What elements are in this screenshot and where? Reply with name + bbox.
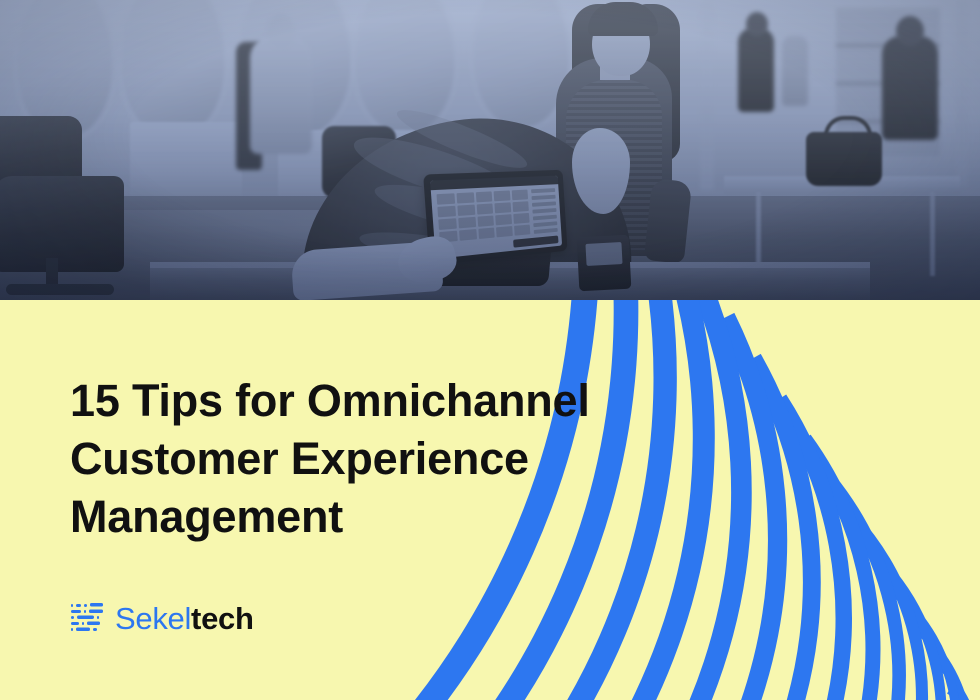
decorative-arc [823,555,941,700]
chair-base [6,284,114,295]
card-terminal-screen [585,242,622,266]
decorative-arc [782,517,922,700]
background-shopper [782,36,808,106]
pos-product-grid [436,190,530,243]
table-leg [930,192,935,276]
content-panel: 15 Tips for Omnichannel Customer Experie… [0,300,980,700]
brand-wordmark: Sekeltech [115,603,254,634]
window-column [700,0,714,190]
poster-canvas: 15 Tips for Omnichannel Customer Experie… [0,0,980,700]
hero-image-scene [0,0,980,300]
hero-image [0,0,980,300]
decorative-arc [737,479,899,700]
decorative-arc [920,661,976,700]
pos-checkout-button [513,235,558,247]
background-shopper-head [896,16,924,46]
background-stylist [250,36,312,154]
background-stylist-head [266,14,296,48]
background-shopper [738,28,774,112]
salon-chair [0,176,124,272]
headline-line-1: 15 Tips for Omnichannel [70,372,650,430]
headline-line-3: Management [70,488,650,546]
pos-order-list [531,188,558,234]
sekel-tech-bars-icon [70,602,104,634]
brand-word-primary: Sekel [115,601,191,636]
decorative-arc [689,439,873,700]
decorative-arc [892,628,968,700]
handbag [806,132,882,186]
stylist-hair [588,2,658,36]
window-column [956,0,968,186]
brand-word-secondary: tech [191,601,254,636]
stylist-arm [644,178,692,264]
salon-mirror [118,0,228,140]
decorative-arc [860,592,957,700]
brand-logo[interactable]: Sekeltech [70,602,254,634]
background-shopper [882,36,938,140]
background-shopper-head [746,12,768,36]
headline-line-2: Customer Experience [70,430,650,488]
decorative-arc [943,692,980,700]
decorative-arc [637,399,843,700]
page-title: 15 Tips for Omnichannel Customer Experie… [70,372,650,546]
